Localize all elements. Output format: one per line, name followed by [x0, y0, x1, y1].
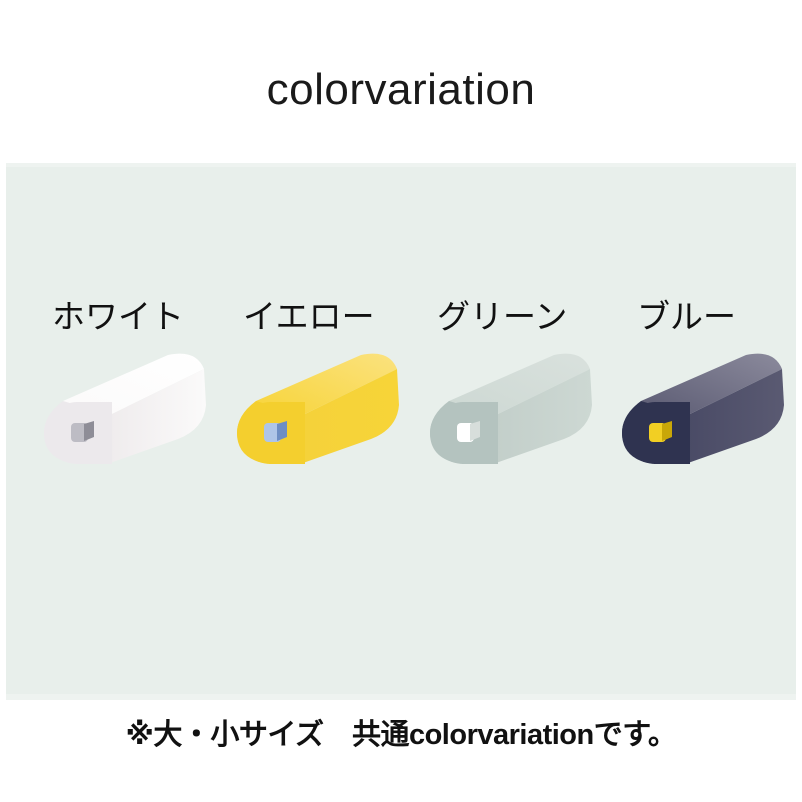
color-label-yellow: イエロー	[243, 296, 375, 338]
size-note-caption: ※大・小サイズ 共通colorvariationです。	[0, 718, 802, 753]
color-label-green: グリーン	[437, 296, 567, 338]
color-label-row: ホワイト イエロー グリーン ブルー	[0, 296, 802, 338]
product-photo-blue	[596, 345, 796, 485]
product-green-icon	[404, 345, 604, 485]
product-blue-icon	[596, 345, 796, 485]
product-photo-green	[404, 345, 604, 485]
product-yellow-icon	[211, 345, 411, 485]
product-image-row	[0, 345, 802, 485]
color-label-white: ホワイト	[52, 296, 184, 338]
product-photo-white	[18, 345, 218, 485]
product-photo-yellow	[211, 345, 411, 485]
page-title: colorvariation	[0, 68, 802, 112]
product-white-icon	[18, 345, 218, 485]
color-label-blue: ブルー	[637, 296, 736, 338]
